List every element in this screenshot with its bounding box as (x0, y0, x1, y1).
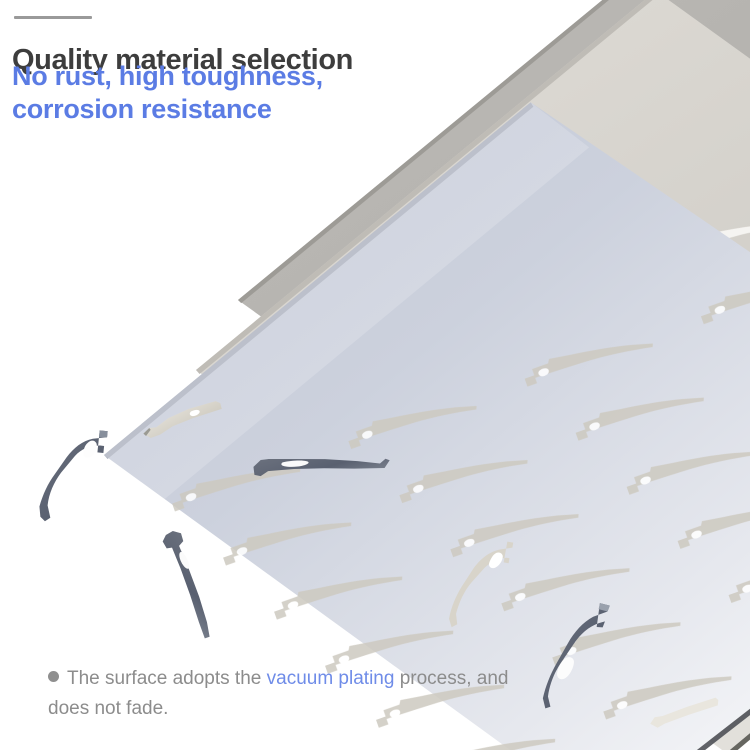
page-subtitle: No rust, high toughness, corrosion resis… (12, 60, 323, 126)
feature-caption: The surface adopts the vacuum plating pr… (48, 664, 518, 725)
loose-blade-curved-left (38, 425, 108, 527)
title-rule (14, 16, 92, 19)
product-banner: Quality material selection No rust, high… (0, 0, 750, 750)
loose-blade-straight-left (150, 528, 233, 639)
caption-highlight: vacuum plating (267, 668, 395, 689)
caption-text-before: The surface adopts the (67, 668, 267, 689)
bullet-icon (48, 671, 59, 682)
